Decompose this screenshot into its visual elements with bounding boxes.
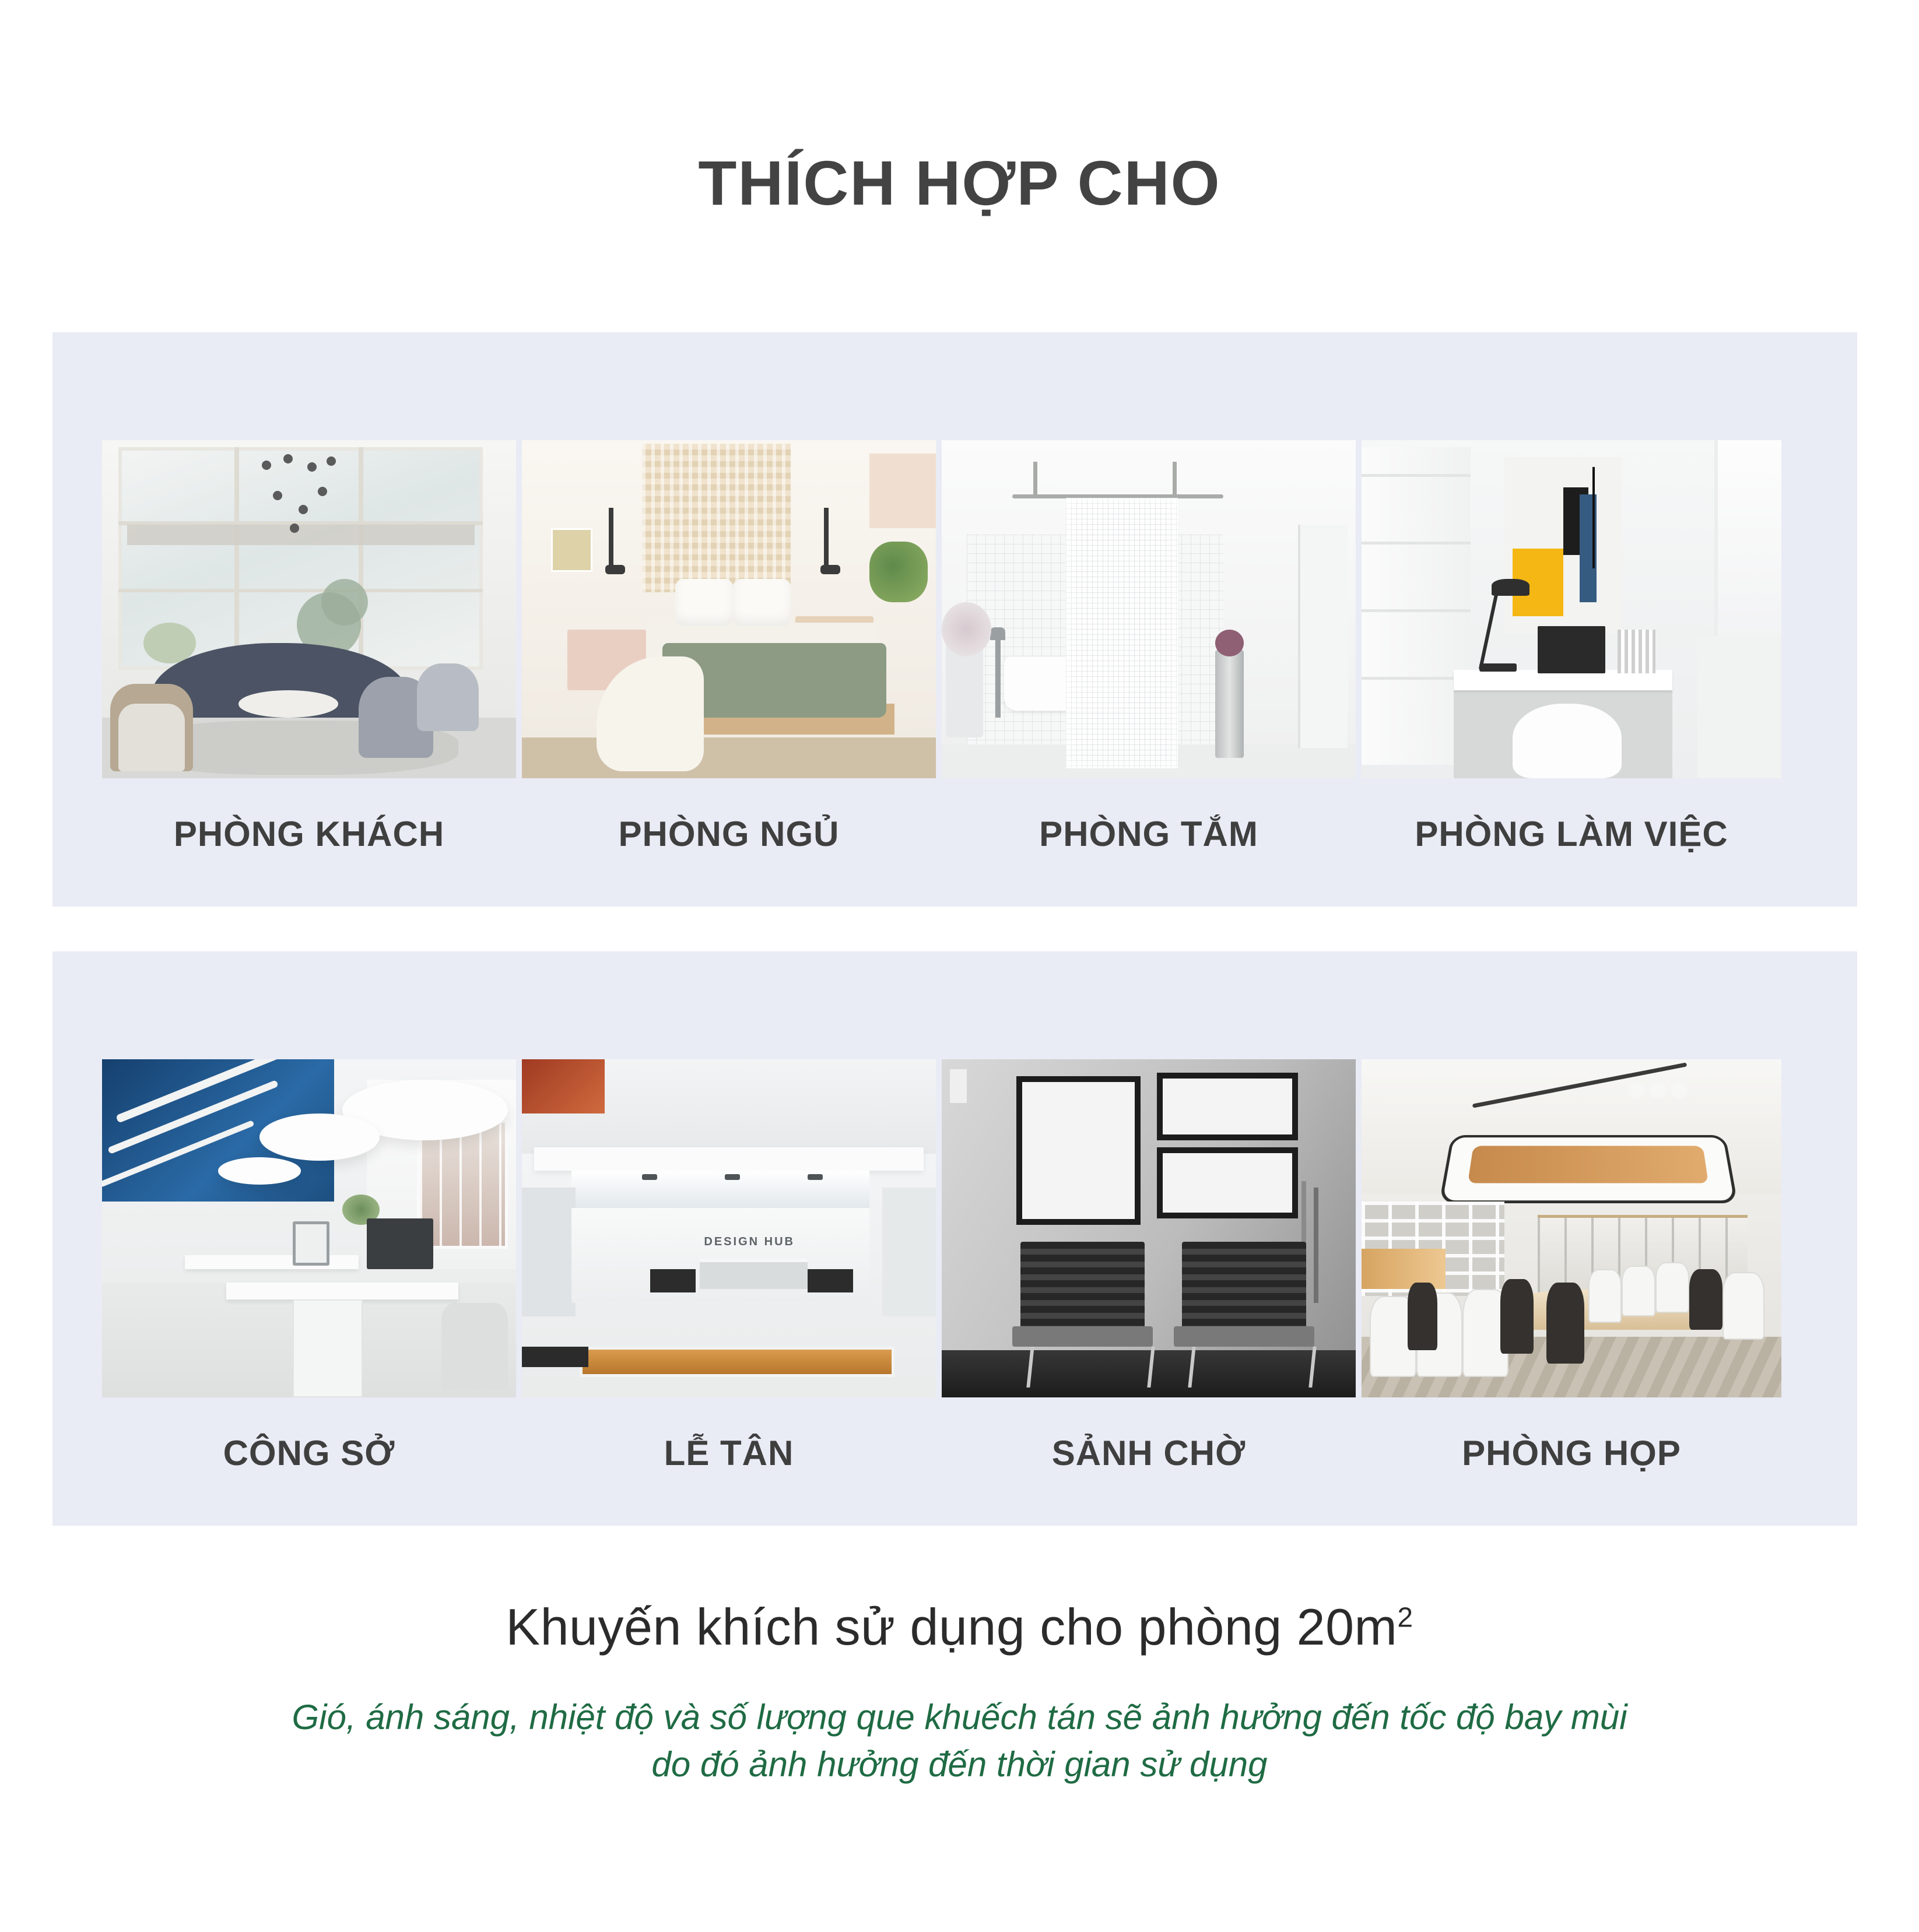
label-open-office: CÔNG SỞ: [102, 1418, 516, 1488]
label-bedroom: PHÒNG NGỦ: [522, 799, 936, 869]
image-row-commercial: DESIGN HUB: [102, 1059, 1811, 1397]
open-office-photo: [102, 1059, 516, 1397]
reception-logo-text: DESIGN HUB: [704, 1235, 795, 1249]
thumb-open-office[interactable]: [102, 1059, 516, 1397]
recommendation-superscript: 2: [1397, 1603, 1413, 1634]
label-home-office: PHÒNG LÀM VIỆC: [1362, 799, 1781, 869]
label-row-residential: PHÒNG KHÁCH PHÒNG NGỦ PHÒNG TẮM PHÒNG LÀ…: [102, 799, 1811, 869]
thumb-meeting-room[interactable]: [1362, 1059, 1781, 1397]
infographic-page: THÍCH HỢP CHO: [0, 0, 1919, 1932]
thumb-living-room[interactable]: [102, 440, 516, 778]
panel-residential: PHÒNG KHÁCH PHÒNG NGỦ PHÒNG TẮM PHÒNG LÀ…: [52, 332, 1857, 907]
image-row-residential: [102, 440, 1811, 778]
page-title: THÍCH HỢP CHO: [0, 149, 1919, 218]
label-reception: LỄ TÂN: [522, 1418, 936, 1488]
waiting-lounge-photo: [942, 1059, 1356, 1397]
label-living-room: PHÒNG KHÁCH: [102, 799, 516, 869]
label-waiting-lounge: SẢNH CHỜ: [942, 1418, 1356, 1488]
home-office-photo: [1362, 440, 1781, 778]
label-bathroom: PHÒNG TẮM: [942, 799, 1356, 869]
recommendation-line: Khuyến khích sử dụng cho phòng 20m2: [0, 1597, 1919, 1657]
label-row-commercial: CÔNG SỞ LỄ TÂN SẢNH CHỜ PHÒNG HỌP: [102, 1418, 1811, 1488]
usage-note-line-2: do đó ảnh hưởng đến thời gian sử dụng: [0, 1741, 1919, 1788]
thumb-waiting-lounge[interactable]: [942, 1059, 1356, 1397]
thumb-reception[interactable]: DESIGN HUB: [522, 1059, 936, 1397]
recommendation-text: Khuyến khích sử dụng cho phòng 20m: [506, 1598, 1397, 1656]
reception-photo: DESIGN HUB: [522, 1059, 936, 1397]
thumb-home-office[interactable]: [1362, 440, 1781, 778]
thumb-bathroom[interactable]: [942, 440, 1356, 778]
meeting-room-photo: [1362, 1059, 1781, 1397]
living-room-photo: [102, 440, 516, 778]
bathroom-photo: [942, 440, 1356, 778]
bedroom-photo: [522, 440, 936, 778]
usage-note-line-1: Gió, ánh sáng, nhiệt độ và số lượng que …: [0, 1694, 1919, 1741]
label-meeting-room: PHÒNG HỌP: [1362, 1418, 1781, 1488]
usage-note: Gió, ánh sáng, nhiệt độ và số lượng que …: [0, 1694, 1919, 1788]
panel-commercial: DESIGN HUB: [52, 951, 1857, 1526]
thumb-bedroom[interactable]: [522, 440, 936, 778]
